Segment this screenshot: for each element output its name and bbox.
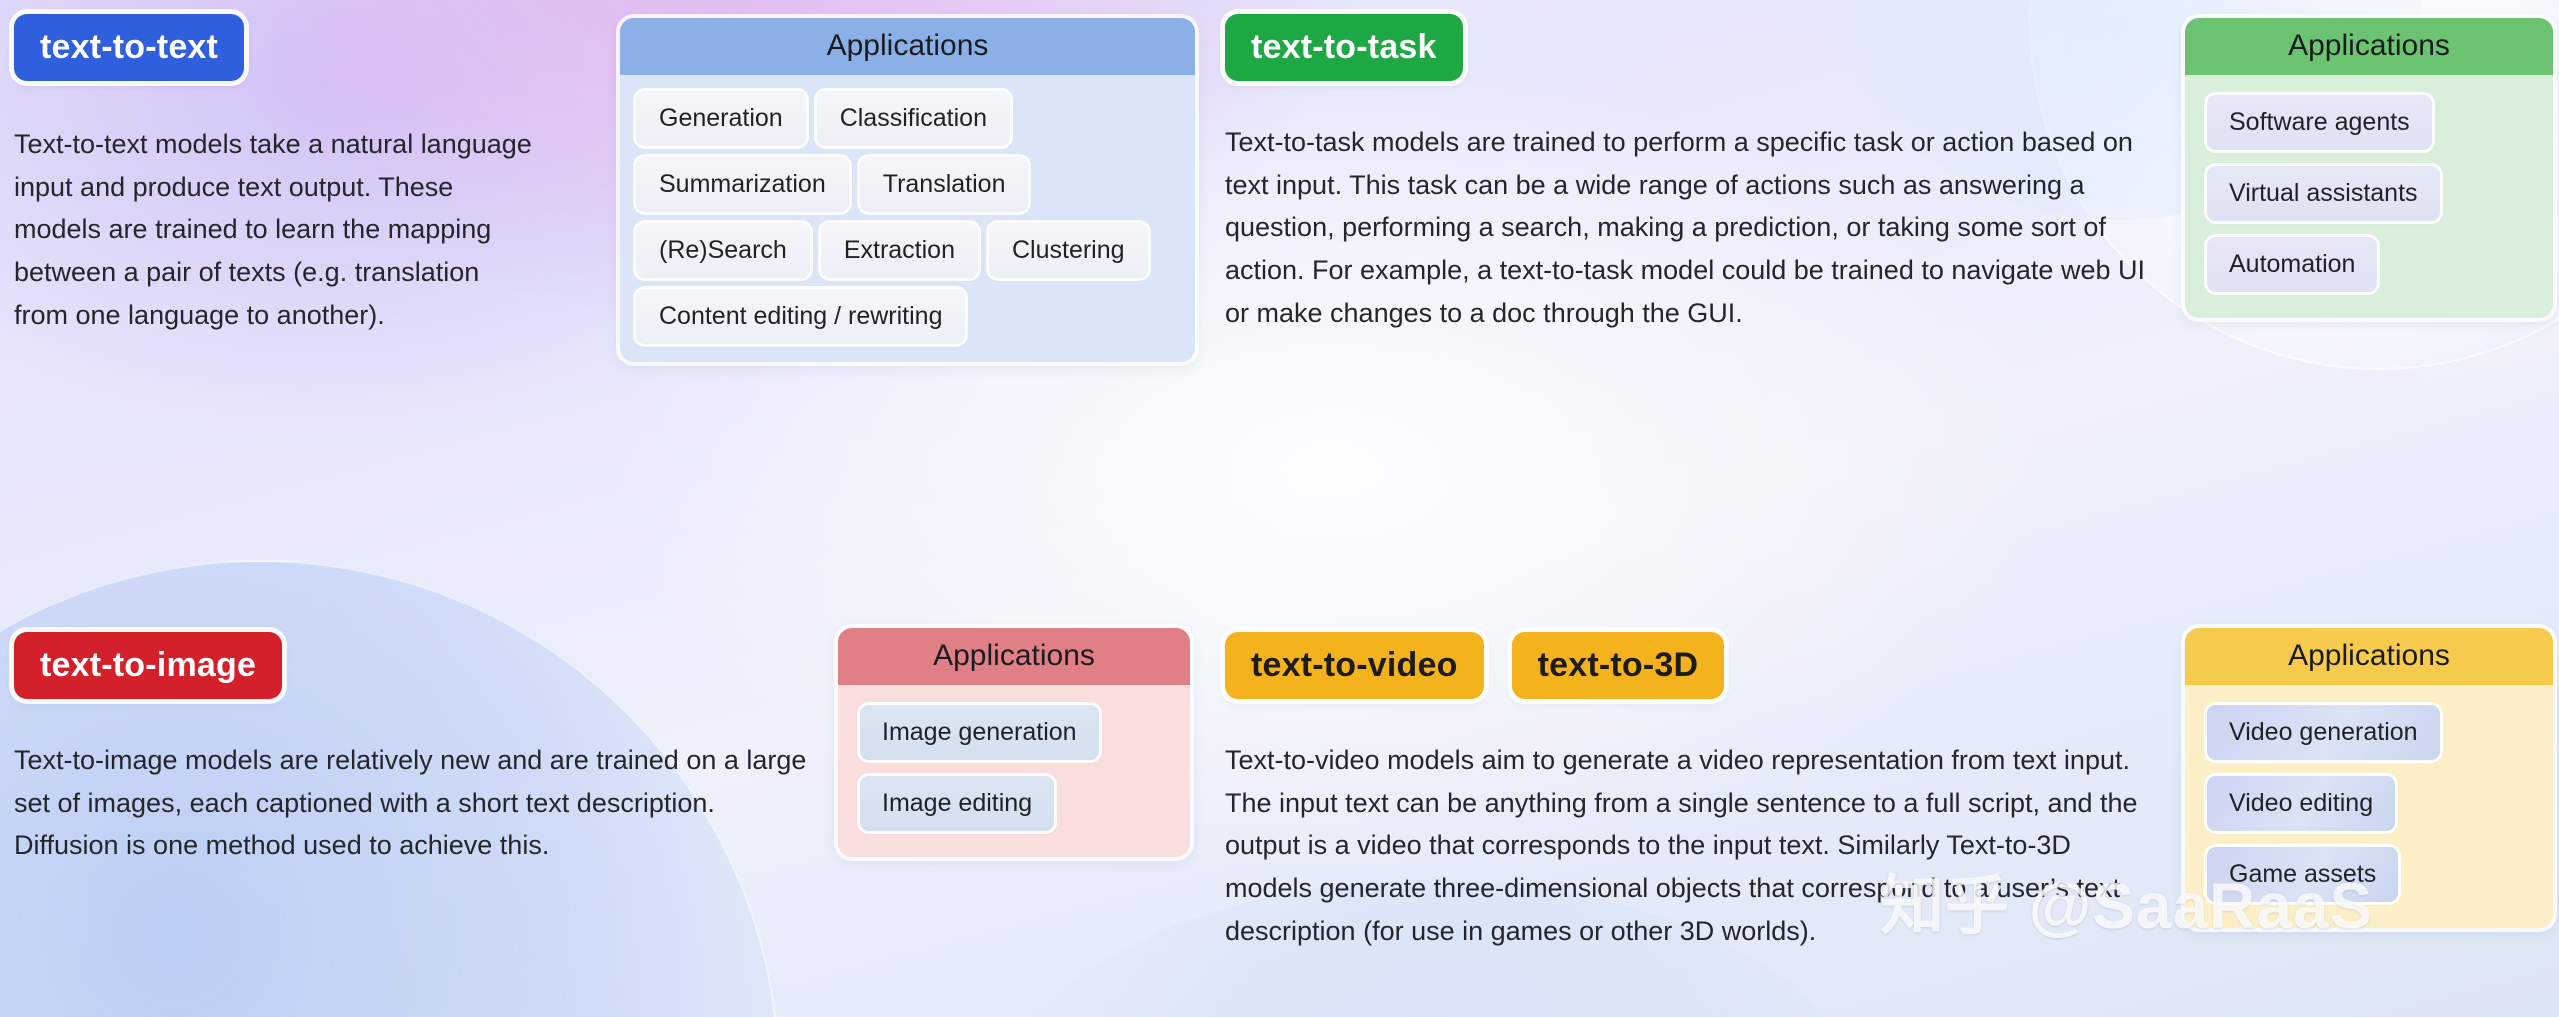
chip-research[interactable]: (Re)Search <box>636 223 810 278</box>
chip-classification[interactable]: Classification <box>817 91 1010 146</box>
applications-card-title: Applications <box>2185 628 2553 685</box>
badge-text-to-3d[interactable]: text-to-3D <box>1512 632 1725 699</box>
description-text-to-video-3d: Text-to-video models aim to generate a v… <box>1225 739 2165 952</box>
description-text-to-text: Text-to-text models take a natural langu… <box>14 123 534 336</box>
chip-group-text-to-text: Generation Classification Summarization … <box>636 91 1179 344</box>
description-text-to-task: Text-to-task models are trained to perfo… <box>1225 121 2165 334</box>
badge-text-to-text[interactable]: text-to-text <box>14 14 244 81</box>
applications-card-body: Video generation Video editing Game asse… <box>2185 685 2553 928</box>
applications-card-title: Applications <box>620 18 1195 75</box>
chip-translation[interactable]: Translation <box>860 157 1029 212</box>
section-text-to-image: text-to-image Text-to-image models are r… <box>14 632 834 867</box>
chip-extraction[interactable]: Extraction <box>821 223 978 278</box>
badge-text-to-video[interactable]: text-to-video <box>1225 632 1484 699</box>
chip-group-text-to-image: Image generation Image editing <box>860 705 1168 831</box>
badge-text-to-task[interactable]: text-to-task <box>1225 14 1463 81</box>
badge-text-to-image[interactable]: text-to-image <box>14 632 282 699</box>
chip-image-generation[interactable]: Image generation <box>860 705 1099 760</box>
section-text-to-video-3d: text-to-video text-to-3D Text-to-video m… <box>1225 632 2175 952</box>
applications-card-body: Software agents Virtual assistants Autom… <box>2185 75 2553 318</box>
applications-card-text-to-image: Applications Image generation Image edit… <box>838 628 1190 857</box>
chip-image-editing[interactable]: Image editing <box>860 776 1054 831</box>
chip-generation[interactable]: Generation <box>636 91 806 146</box>
chip-clustering[interactable]: Clustering <box>989 223 1148 278</box>
section-text-to-text: text-to-text Text-to-text models take a … <box>14 14 344 336</box>
chip-software-agents[interactable]: Software agents <box>2207 95 2432 150</box>
chip-content-editing-rewriting[interactable]: Content editing / rewriting <box>636 289 965 344</box>
applications-card-text-to-video-3d: Applications Video generation Video edit… <box>2185 628 2553 928</box>
chip-summarization[interactable]: Summarization <box>636 157 849 212</box>
chip-game-assets[interactable]: Game assets <box>2207 847 2398 902</box>
section-text-to-task: text-to-task Text-to-task models are tra… <box>1225 14 2175 334</box>
applications-card-body: Image generation Image editing <box>838 685 1190 857</box>
chip-automation[interactable]: Automation <box>2207 237 2377 292</box>
badge-group-text-to-video-3d: text-to-video text-to-3D <box>1225 632 2175 699</box>
applications-card-title: Applications <box>2185 18 2553 75</box>
chip-video-generation[interactable]: Video generation <box>2207 705 2440 760</box>
chip-group-text-to-task: Software agents Virtual assistants Autom… <box>2207 95 2531 292</box>
applications-card-body: Generation Classification Summarization … <box>620 75 1195 362</box>
infographic-canvas: text-to-text Text-to-text models take a … <box>0 0 2559 1017</box>
applications-card-title: Applications <box>838 628 1190 685</box>
applications-card-text-to-text: Applications Generation Classification S… <box>620 18 1195 362</box>
applications-card-text-to-task: Applications Software agents Virtual ass… <box>2185 18 2553 318</box>
chip-video-editing[interactable]: Video editing <box>2207 776 2395 831</box>
chip-group-text-to-video-3d: Video generation Video editing Game asse… <box>2207 705 2531 902</box>
chip-virtual-assistants[interactable]: Virtual assistants <box>2207 166 2440 221</box>
description-text-to-image: Text-to-image models are relatively new … <box>14 739 819 867</box>
